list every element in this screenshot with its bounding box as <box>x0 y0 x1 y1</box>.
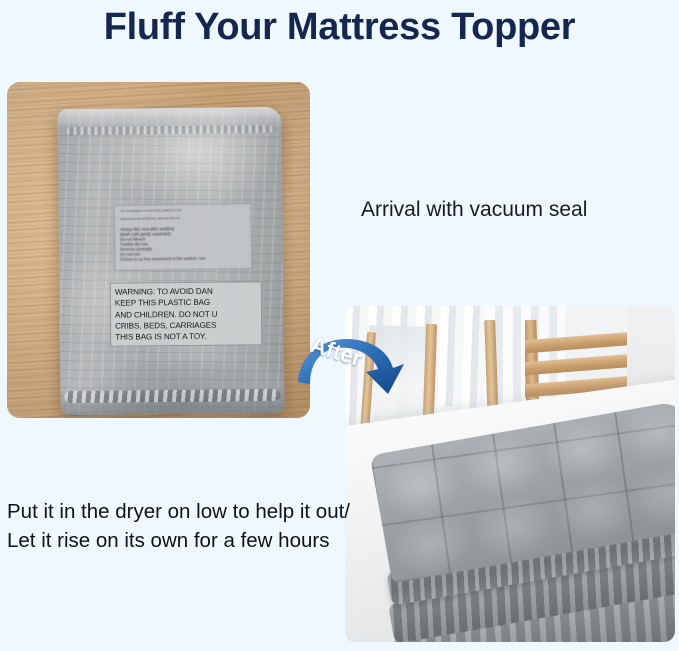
caption-line-2: Let it rise on its own for a few hours <box>7 526 350 555</box>
care-label-header-line-2: avoid return to normal fluffiness. Glad … <box>120 217 246 222</box>
suffocation-warning-label: WARNING: TO AVOID DAN KEEP THIS PLASTIC … <box>110 281 263 346</box>
infographic-page: Fluff Your Mattress Topper Tips: it's pa… <box>0 0 679 651</box>
caption-dryer-instructions: Put it in the dryer on low to help it ou… <box>7 497 350 555</box>
vacuum-sealed-package-photo: Tips: it's packaged in a vacuum bag, was… <box>7 82 310 418</box>
caption-line-1: Put it in the dryer on low to help it ou… <box>7 497 350 526</box>
warning-line: THIS BAG IS NOT A TOY. <box>115 331 257 344</box>
after-arrow-badge: After <box>296 330 408 406</box>
care-label-header-line-1: Tips: it's packaged in a vacuum bag, was… <box>120 208 246 213</box>
page-title: Fluff Your Mattress Topper <box>0 6 679 49</box>
caption-arrival-with-vacuum-seal: Arrival with vacuum seal <box>361 198 587 222</box>
care-instruction-line: If there is no free movement in the wash… <box>120 255 246 262</box>
bag-top-fold <box>57 107 281 143</box>
care-instruction-label: Tips: it's packaged in a vacuum bag, was… <box>114 203 253 271</box>
bag-bottom-fold <box>60 367 284 415</box>
curved-arrow-icon <box>296 330 408 406</box>
